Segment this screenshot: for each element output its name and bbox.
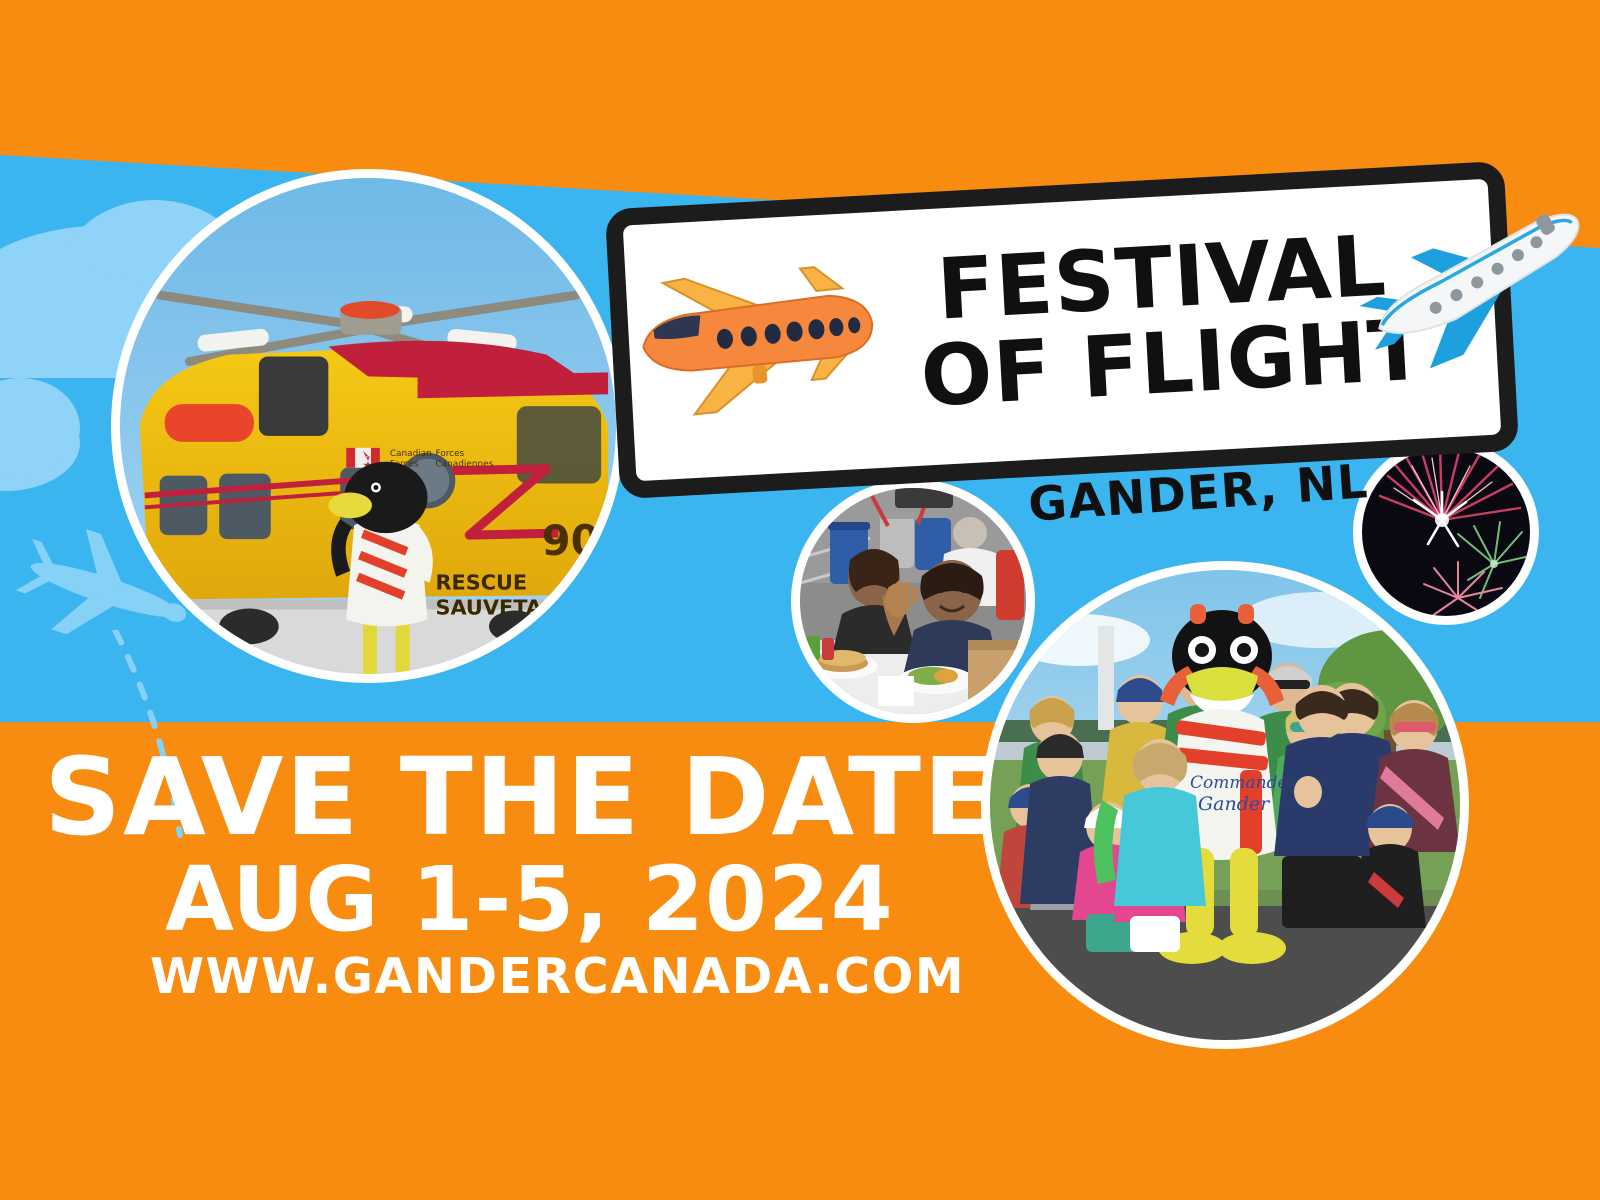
poster-canvas: Canadian Forces Forces Canadiennes 905 R…	[0, 0, 1600, 1200]
save-the-date-heading: SAVE THE DATE	[44, 745, 998, 852]
website-url[interactable]: WWW.GANDERCANADA.COM	[150, 952, 965, 1001]
svg-text:Commander: Commander	[1190, 773, 1297, 793]
photo-kids-lunch	[800, 488, 1026, 714]
photo-helicopter: Canadian Forces Forces Canadiennes 905 R…	[120, 178, 616, 674]
blue-airplane-icon	[1348, 205, 1600, 385]
orange-airplane-icon	[625, 258, 880, 418]
svg-text:RESCUE: RESCUE	[435, 571, 527, 595]
svg-text:Canadian: Canadian	[390, 449, 432, 459]
svg-text:Gander: Gander	[1198, 793, 1271, 815]
svg-text:Forces: Forces	[435, 449, 464, 459]
photo-fireworks	[1362, 448, 1530, 616]
photo-group-mascot: Commander Gander	[990, 570, 1460, 1040]
event-dates: AUG 1-5, 2024	[165, 855, 894, 944]
svg-text:Canadiennes: Canadiennes	[435, 460, 493, 470]
